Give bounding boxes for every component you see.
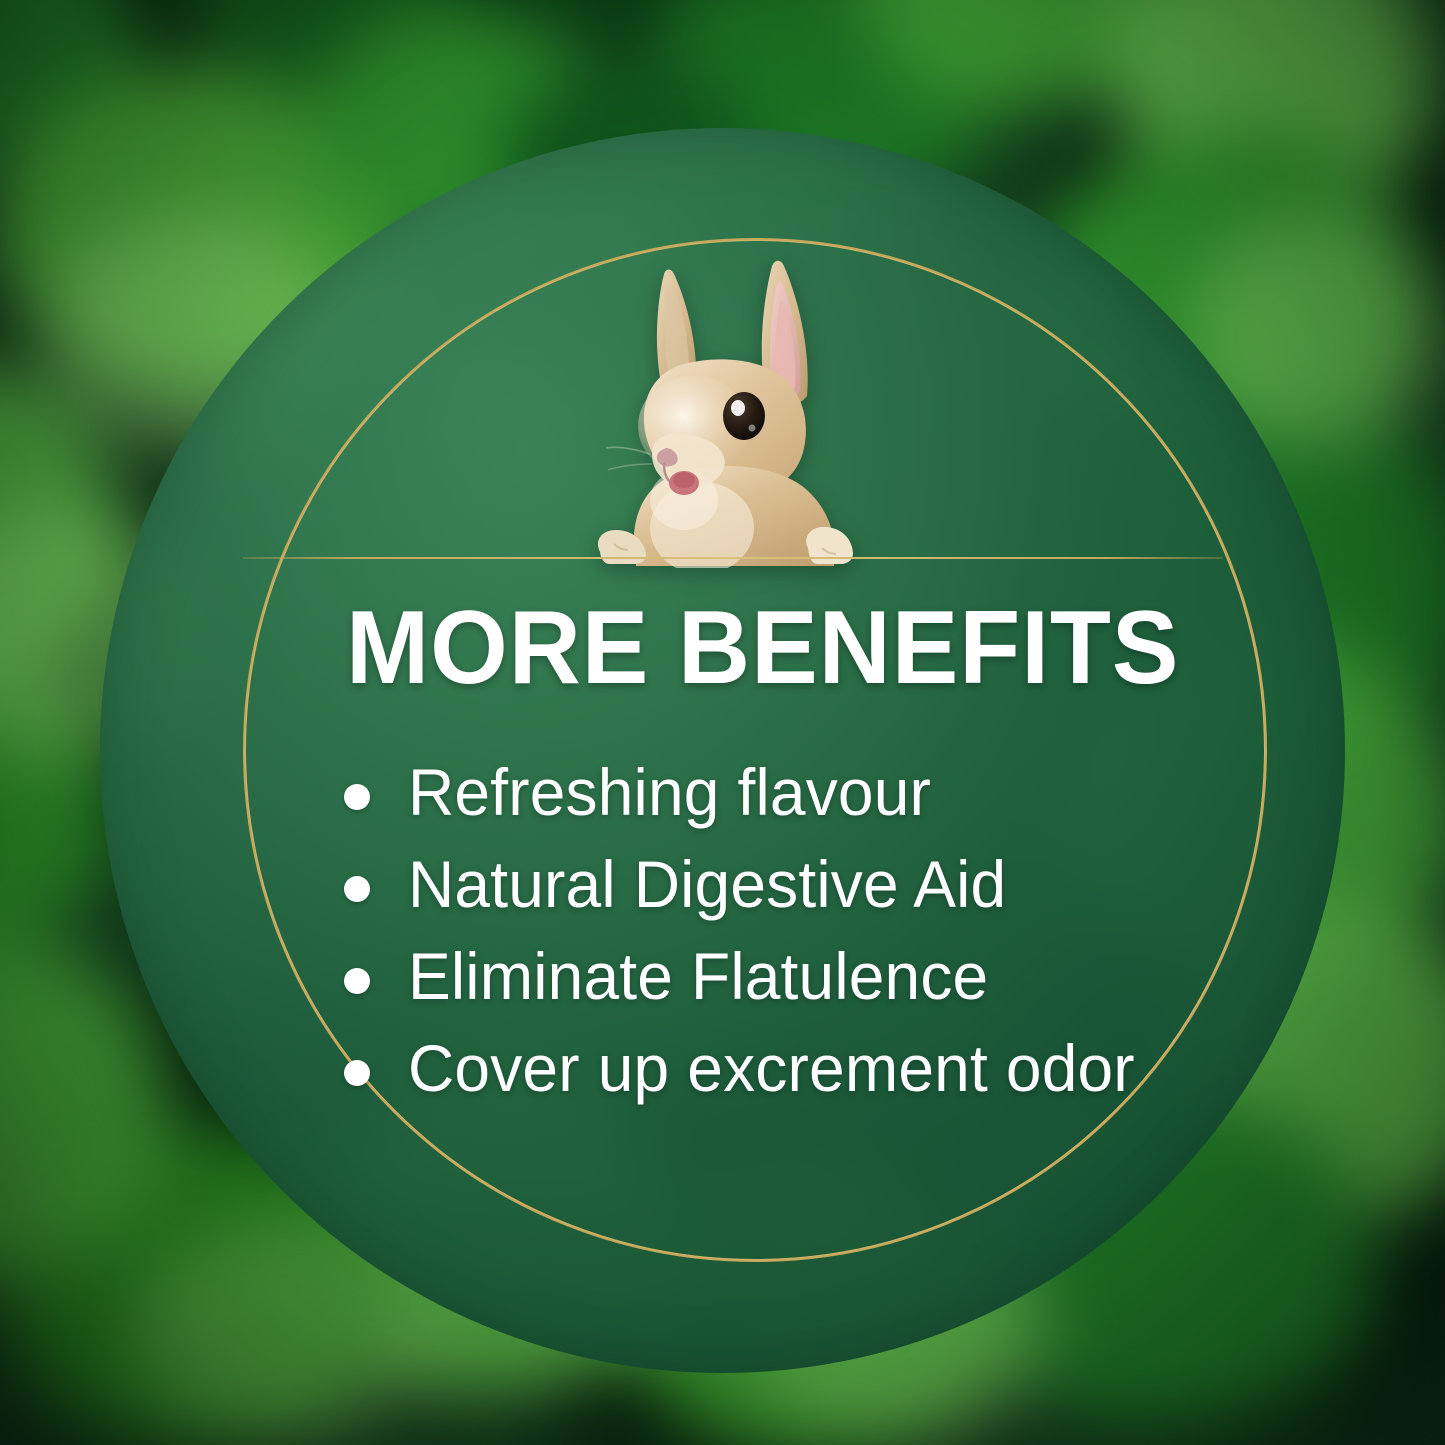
rabbit-illustration bbox=[576, 248, 876, 568]
benefit-label: Refreshing flavour bbox=[408, 758, 931, 827]
list-item: Eliminate Flatulence bbox=[344, 942, 1244, 1034]
bullet-dot-icon bbox=[344, 876, 370, 902]
bullet-dot-icon bbox=[344, 1060, 370, 1086]
promo-card: MORE BENEFITS Refreshing flavour Natural… bbox=[0, 0, 1445, 1445]
list-item: Natural Digestive Aid bbox=[344, 850, 1244, 942]
benefit-label: Cover up excrement odor bbox=[408, 1034, 1135, 1103]
list-item: Cover up excrement odor bbox=[344, 1034, 1244, 1126]
benefit-label: Eliminate Flatulence bbox=[408, 942, 988, 1011]
benefits-list: Refreshing flavour Natural Digestive Aid… bbox=[344, 758, 1244, 1126]
list-item: Refreshing flavour bbox=[344, 758, 1244, 850]
gold-divider-line bbox=[243, 557, 1223, 559]
page-title: MORE BENEFITS bbox=[346, 596, 1179, 700]
benefit-label: Natural Digestive Aid bbox=[408, 850, 1006, 919]
bullet-dot-icon bbox=[344, 784, 370, 810]
bullet-dot-icon bbox=[344, 968, 370, 994]
